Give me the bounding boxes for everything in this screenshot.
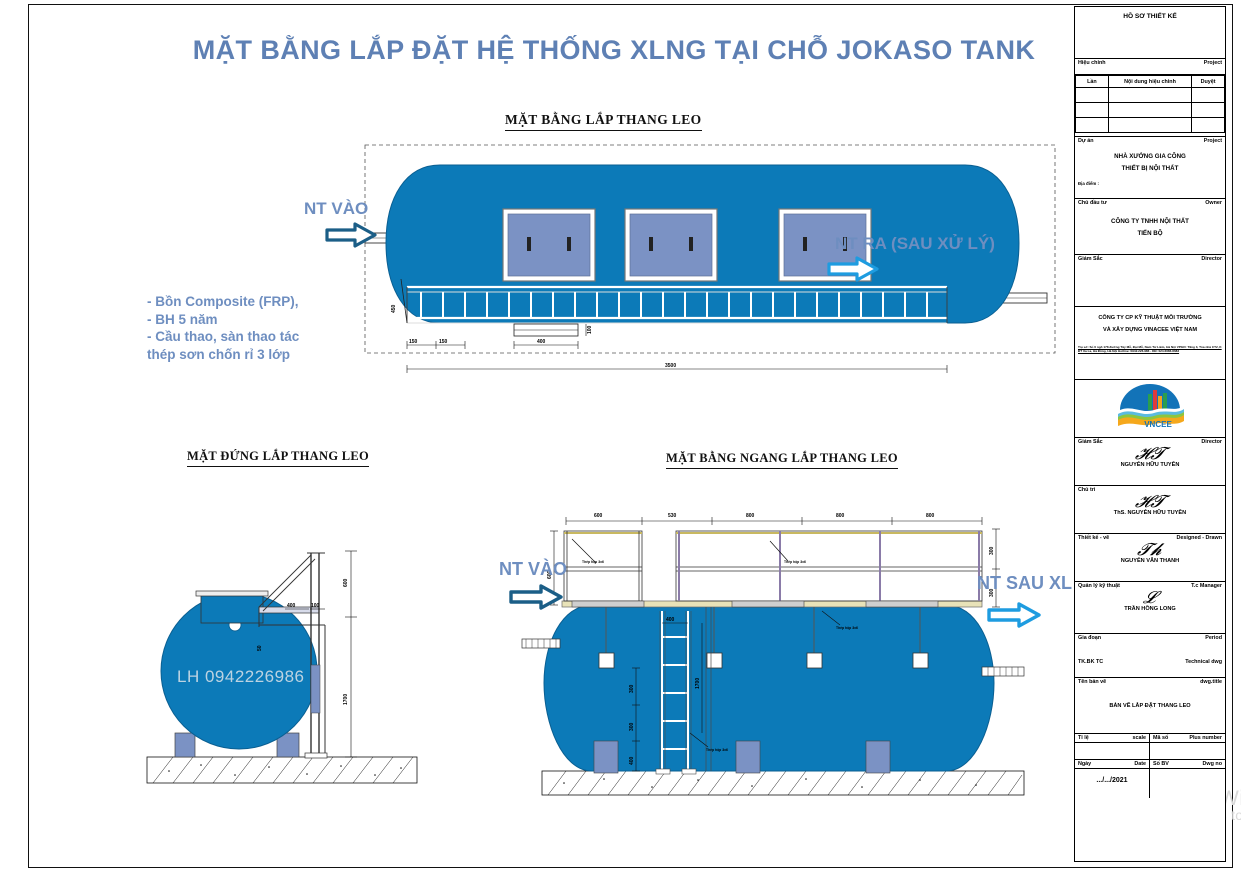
dim-300a: 300 [989, 546, 995, 555]
tb-owner-label-en: Owner [1205, 200, 1222, 206]
tb-dwg-no: Số BV Dwg no [1150, 760, 1225, 798]
notes-block: - Bồn Composite (FRP), - BH 5 năm - Cầu … [147, 293, 299, 363]
tb-designer: Thiết kế - vẽ Designed - Drawn 𝓣𝓱 NGUYỄN… [1075, 534, 1225, 582]
support-block [866, 741, 890, 773]
dim-100: 100 [587, 325, 593, 334]
tb-code-label-vi: Mã số [1153, 735, 1168, 741]
support-block [594, 741, 618, 773]
signature: 𝓣𝓱 [1073, 542, 1226, 557]
part-label-right: Thép hộp 3x6 [784, 560, 806, 564]
landing-detail [514, 324, 578, 336]
note-line-1: - Bồn Composite (FRP), [147, 293, 299, 311]
tb-stage-value-en: Technical dwg [1185, 659, 1222, 665]
tb-date-label-vi: Ngày [1078, 761, 1091, 767]
tb-company-line-1: CÔNG TY CP KỸ THUẬT MÔI TRƯỜNG [1075, 312, 1225, 324]
note-line-3: - Cầu thao, sàn thao tác [147, 328, 299, 346]
inlet-stub [522, 639, 560, 648]
tb-supervisor: Giám Sắc Director [1075, 255, 1225, 307]
tb-owner-value-1: CÔNG TY TNHH NỘI THẤT [1075, 216, 1225, 228]
tb-rev-col-2: Duyệt [1192, 76, 1225, 88]
note-line-4: thép sơn chốn rỉ 3 lớp [147, 346, 299, 364]
dim-800a: 800 [746, 513, 755, 519]
tb-dwg-title-label-en: dwg.title [1200, 679, 1222, 685]
tb-scale-code-row: Tỉ lệ scale Mã số Plus number [1075, 734, 1225, 760]
dim-3500: 3500 [665, 363, 676, 369]
tb-project-label-en: Project [1204, 138, 1222, 144]
tb-stage-value-vi: TK.BK TC [1078, 659, 1103, 665]
saddle-support [175, 733, 195, 757]
dim-600: 600 [594, 513, 603, 519]
outlet-label-side: NT SAU XL [977, 573, 1072, 594]
tb-director-label-vi: Giám Sắc [1078, 439, 1103, 445]
access-hatch [503, 209, 595, 281]
dim-1700: 1700 [343, 694, 349, 705]
top-view-drawing: 150 150 400 100 3500 450 [347, 137, 1087, 387]
signature: 𝓗𝓣 [1073, 494, 1226, 509]
tb-date: Ngày Date .../.../2021 [1075, 760, 1150, 798]
tb-scale-label-vi: Tỉ lệ [1078, 735, 1089, 741]
title-block: HỒ SƠ THIẾT KẾ Hiệu chỉnh Project Lần Nộ… [1074, 6, 1226, 862]
dimension-lines [407, 324, 947, 373]
view-title-front: MẶT ĐỨNG LẮP THANG LEO [187, 449, 369, 467]
tb-company-address: Trụ sở: Số 6 ngõ 178 đường Tây Mỗ, Đại M… [1075, 345, 1225, 354]
table-row [1076, 103, 1225, 118]
side-view-drawing: Thép hộp 3x6 Thép hộp 3x6 [484, 483, 1084, 813]
ground-slab [542, 771, 1024, 795]
tb-supervisor-label-en: Director [1201, 256, 1222, 262]
front-view-drawing: 600 1700 400 100 50 [139, 475, 449, 805]
tb-revision-label-en: Project [1204, 60, 1222, 66]
tb-designer-label-en: Designed - Drawn [1176, 535, 1222, 541]
tb-owner-value-2: TIẾN BỘ [1075, 228, 1225, 240]
tb-project: Dự án Project NHÀ XƯỞNG GIA CÔNG THIẾT B… [1075, 137, 1225, 199]
tb-header: HỒ SƠ THIẾT KẾ [1075, 7, 1225, 59]
phone-watermark: LH 0942226986 [177, 667, 305, 687]
tb-code-label-en: Plus number [1189, 735, 1222, 741]
tb-revision-table: Lần Nội dung hiệu chỉnh Duyệt [1075, 75, 1225, 137]
dim-300d: 300 [629, 722, 635, 731]
dim-1700-ladder: 1700 [695, 678, 701, 689]
tb-revision-header: Hiệu chỉnh Project [1075, 59, 1225, 75]
dim-800b: 800 [836, 513, 845, 519]
dim-150b: 150 [439, 339, 448, 345]
tb-chief: Chủ trì 𝓗𝓣 ThS. NGUYỄN HỮU TUYÊN [1075, 486, 1225, 534]
manhole-neck [196, 591, 268, 623]
access-hatch [625, 209, 717, 281]
tb-director: Giám Sắc Director 𝓗𝓣 NGUYỄN HỮU TUYÊN [1075, 438, 1225, 486]
outlet-stub [982, 667, 1024, 676]
vncee-logo-icon: VNCEE [1114, 384, 1188, 432]
tb-date-dwgno-row: Ngày Date .../.../2021 Số BV Dwg no [1075, 760, 1225, 798]
dim-400-ladder: 400 [666, 617, 675, 623]
tb-scale-value [1075, 743, 1149, 747]
tb-dwg-no-label-en: Dwg no [1203, 761, 1222, 767]
tb-logo: VNCEE [1075, 380, 1225, 438]
tb-tech-manager: Quản lý kỹ thuật T.c Manager 𝓛 TRẦN HỒNG… [1075, 582, 1225, 634]
dim-530: 530 [668, 513, 677, 519]
tb-tech-manager-label-vi: Quản lý kỹ thuật [1078, 583, 1120, 589]
tb-designer-label-vi: Thiết kế - vẽ [1078, 535, 1109, 541]
inlet-arrow-icon [325, 221, 381, 249]
tb-supervisor-label-vi: Giám Sắc [1078, 256, 1103, 262]
tb-code: Mã số Plus number [1150, 734, 1225, 759]
dim-450: 450 [391, 304, 397, 313]
dim-400: 400 [537, 339, 546, 345]
table-row [1076, 88, 1225, 103]
dim-100: 100 [311, 603, 320, 609]
outlet-arrow-icon [827, 255, 883, 283]
tb-company-line-2: VÀ XÂY DỰNG VINACEE VIỆT NAM [1075, 324, 1225, 336]
part-label-left: Thép hộp 3x6 [582, 560, 604, 564]
tb-scale-label-en: scale [1133, 735, 1147, 741]
tb-project-value-2: THIẾT BỊ NỘI THẤT [1075, 163, 1225, 175]
tb-owner-label-vi: Chủ đầu tư [1078, 200, 1107, 206]
dimension-chain-top [566, 517, 982, 525]
tb-revision-label-vi: Hiệu chỉnh [1078, 60, 1106, 66]
note-line-2: - BH 5 năm [147, 311, 299, 329]
signature: 𝓗𝓣 [1073, 446, 1226, 461]
support-block [736, 741, 760, 773]
page-title: MẶT BẰNG LẮP ĐẶT HỆ THỐNG XLNG TẠI CHỖ J… [149, 35, 1079, 66]
tb-stage-label-vi: Gia đoạn [1078, 635, 1101, 641]
tb-dwg-title-value: BẢN VẼ LẮP ĐẶT THANG LEO [1075, 700, 1225, 712]
tb-director-label-en: Director [1201, 439, 1222, 445]
tb-date-value: .../.../2021 [1075, 775, 1149, 787]
dim-600: 600 [343, 578, 349, 587]
view-title-side: MẶT BẰNG NGANG LẮP THANG LEO [666, 451, 898, 469]
dim-50: 50 [257, 645, 263, 651]
view-title-top: MẶT BẰNG LẮP THANG LEO [505, 112, 702, 131]
tb-rev-col-1: Nội dung hiệu chỉnh [1108, 76, 1191, 88]
drawing-sheet: MẶT BẰNG LẮP ĐẶT HỆ THỐNG XLNG TẠI CHỖ J… [28, 4, 1233, 868]
tb-dwg-no-value [1150, 769, 1225, 773]
inlet-label-side: NT VÀO [499, 559, 567, 580]
inlet-arrow-icon-side [509, 583, 567, 611]
tb-project-sub: Địa điểm : [1075, 175, 1225, 186]
tb-dwg-no-label-vi: Số BV [1153, 761, 1169, 767]
tb-date-label-en: Date [1134, 761, 1146, 767]
dim-800c: 800 [926, 513, 935, 519]
table-row [1076, 118, 1225, 133]
ground-slab [147, 757, 417, 783]
vncee-logo-text: VNCEE [1144, 420, 1172, 429]
tb-project-value-1: NHÀ XƯỞNG GIA CÔNG [1075, 151, 1225, 163]
inlet-label-top: NT VÀO [304, 199, 368, 219]
tb-dwg-title-label-vi: Tên bản vẽ [1078, 679, 1106, 685]
tb-owner: Chủ đầu tư Owner CÔNG TY TNHH NỘI THẤT T… [1075, 199, 1225, 255]
dim-150a: 150 [409, 339, 418, 345]
tb-stage: Gia đoạn Period TK.BK TC Technical dwg [1075, 634, 1225, 678]
tb-header-text: HỒ SƠ THIẾT KẾ [1075, 7, 1225, 23]
tb-scale: Tỉ lệ scale [1075, 734, 1150, 759]
tb-stage-label-en: Period [1205, 635, 1222, 641]
dim-400: 400 [287, 603, 296, 609]
tb-code-value [1150, 743, 1225, 747]
railing-bay-right [676, 531, 982, 601]
railing-bay-left [564, 531, 642, 601]
part-label-deck: Thép hộp 3x6 [836, 626, 858, 630]
outlet-arrow-icon-side [987, 601, 1045, 629]
tb-dwg-title: Tên bản vẽ dwg.title BẢN VẼ LẮP ĐẶT THAN… [1075, 678, 1225, 734]
tb-project-label-vi: Dự án [1078, 138, 1094, 144]
part-label-bottom: Thép hộp 3x6 [706, 748, 728, 752]
tb-company: CÔNG TY CP KỸ THUẬT MÔI TRƯỜNG VÀ XÂY DỰ… [1075, 312, 1225, 380]
tb-tech-manager-label-en: T.c Manager [1191, 583, 1222, 589]
tb-rev-col-0: Lần [1076, 76, 1109, 88]
outlet-label-top: NT RA (SAU XỬ LÝ) [835, 234, 995, 254]
dim-400b: 400 [629, 756, 635, 765]
dim-300c: 300 [629, 684, 635, 693]
tb-chief-label-vi: Chủ trì [1078, 487, 1095, 493]
signature: 𝓛 [1073, 590, 1226, 605]
